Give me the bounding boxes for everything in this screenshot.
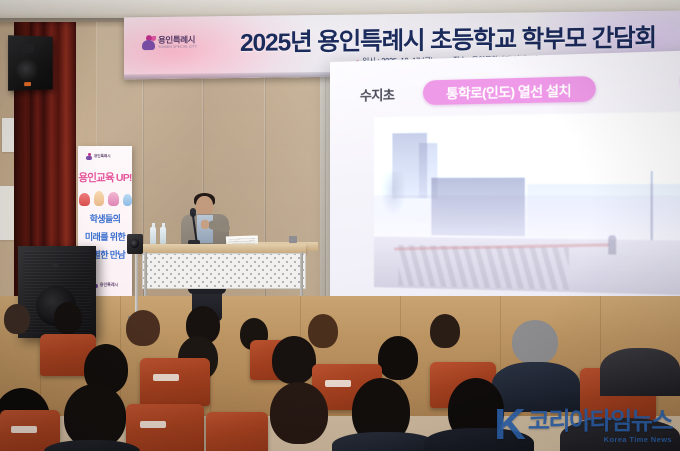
audience-head [64, 384, 126, 448]
audience-head [126, 310, 160, 346]
audience-head [512, 320, 558, 364]
table-leg [300, 252, 303, 296]
city-logo-kr: 용인특례시 [158, 35, 197, 44]
audience-head [308, 314, 338, 348]
video-camera-icon [127, 234, 143, 254]
head-table-top [140, 244, 306, 253]
slide-school-label: 수지초 [360, 84, 394, 104]
person-figure-icon [79, 193, 90, 206]
yongin-emblem-icon [86, 153, 92, 160]
table-leg [144, 252, 147, 296]
rollup-headline: 용인교육 UP! [78, 170, 132, 185]
cup-icon [289, 236, 297, 243]
audience-head [378, 336, 418, 380]
audience-chair [126, 404, 204, 451]
watermark-korean: 코리아타임뉴스 [528, 410, 672, 434]
watermark-monogram: K [494, 407, 523, 443]
rollup-logo: 용인특례시 [86, 153, 111, 160]
wall-speaker-icon [8, 35, 53, 91]
person-figure-icon [94, 191, 104, 206]
city-logo-en: YONGIN SPECIAL CITY [158, 45, 197, 49]
audience-shoulders [332, 432, 438, 451]
rollup-line-2: 미래를 위한 [78, 230, 132, 243]
audience-head [272, 336, 316, 384]
watermark: K 코리아타임뉴스 Korea Time News [494, 407, 672, 443]
speaker-hand [201, 220, 209, 229]
rollup-illustration [78, 186, 132, 206]
yongin-emblem-icon [142, 35, 155, 50]
water-bottle-icon [160, 227, 166, 244]
audience-chair [206, 412, 268, 451]
slide-photo [374, 112, 680, 296]
city-logo: 용인특례시 YONGIN SPECIAL CITY [142, 35, 197, 51]
projection-screen: 수지초 통학로(인도) 열선 설치 [330, 50, 680, 324]
rollup-logo-label: 용인특례시 [94, 154, 111, 159]
rollup-line-1: 학생들의 [78, 212, 132, 225]
slide-topic-pill: 통학로(인도) 열선 설치 [423, 76, 595, 105]
audience-chair [140, 358, 210, 406]
audience-shoulders [600, 348, 680, 396]
person-figure-icon [123, 194, 132, 206]
watermark-english: Korea Time News [604, 436, 672, 444]
audience-head [54, 302, 82, 334]
audience-head [270, 382, 328, 444]
person-figure-icon [108, 192, 119, 206]
head-table-modesty-panel [142, 253, 306, 289]
audience-head [4, 304, 30, 334]
speaker-head [196, 196, 213, 216]
photo-canvas: 용인특례시 YONGIN SPECIAL CITY 2025년 용인특례시 초등… [0, 0, 680, 451]
water-bottle-icon [150, 227, 156, 244]
audience-head [430, 314, 460, 348]
